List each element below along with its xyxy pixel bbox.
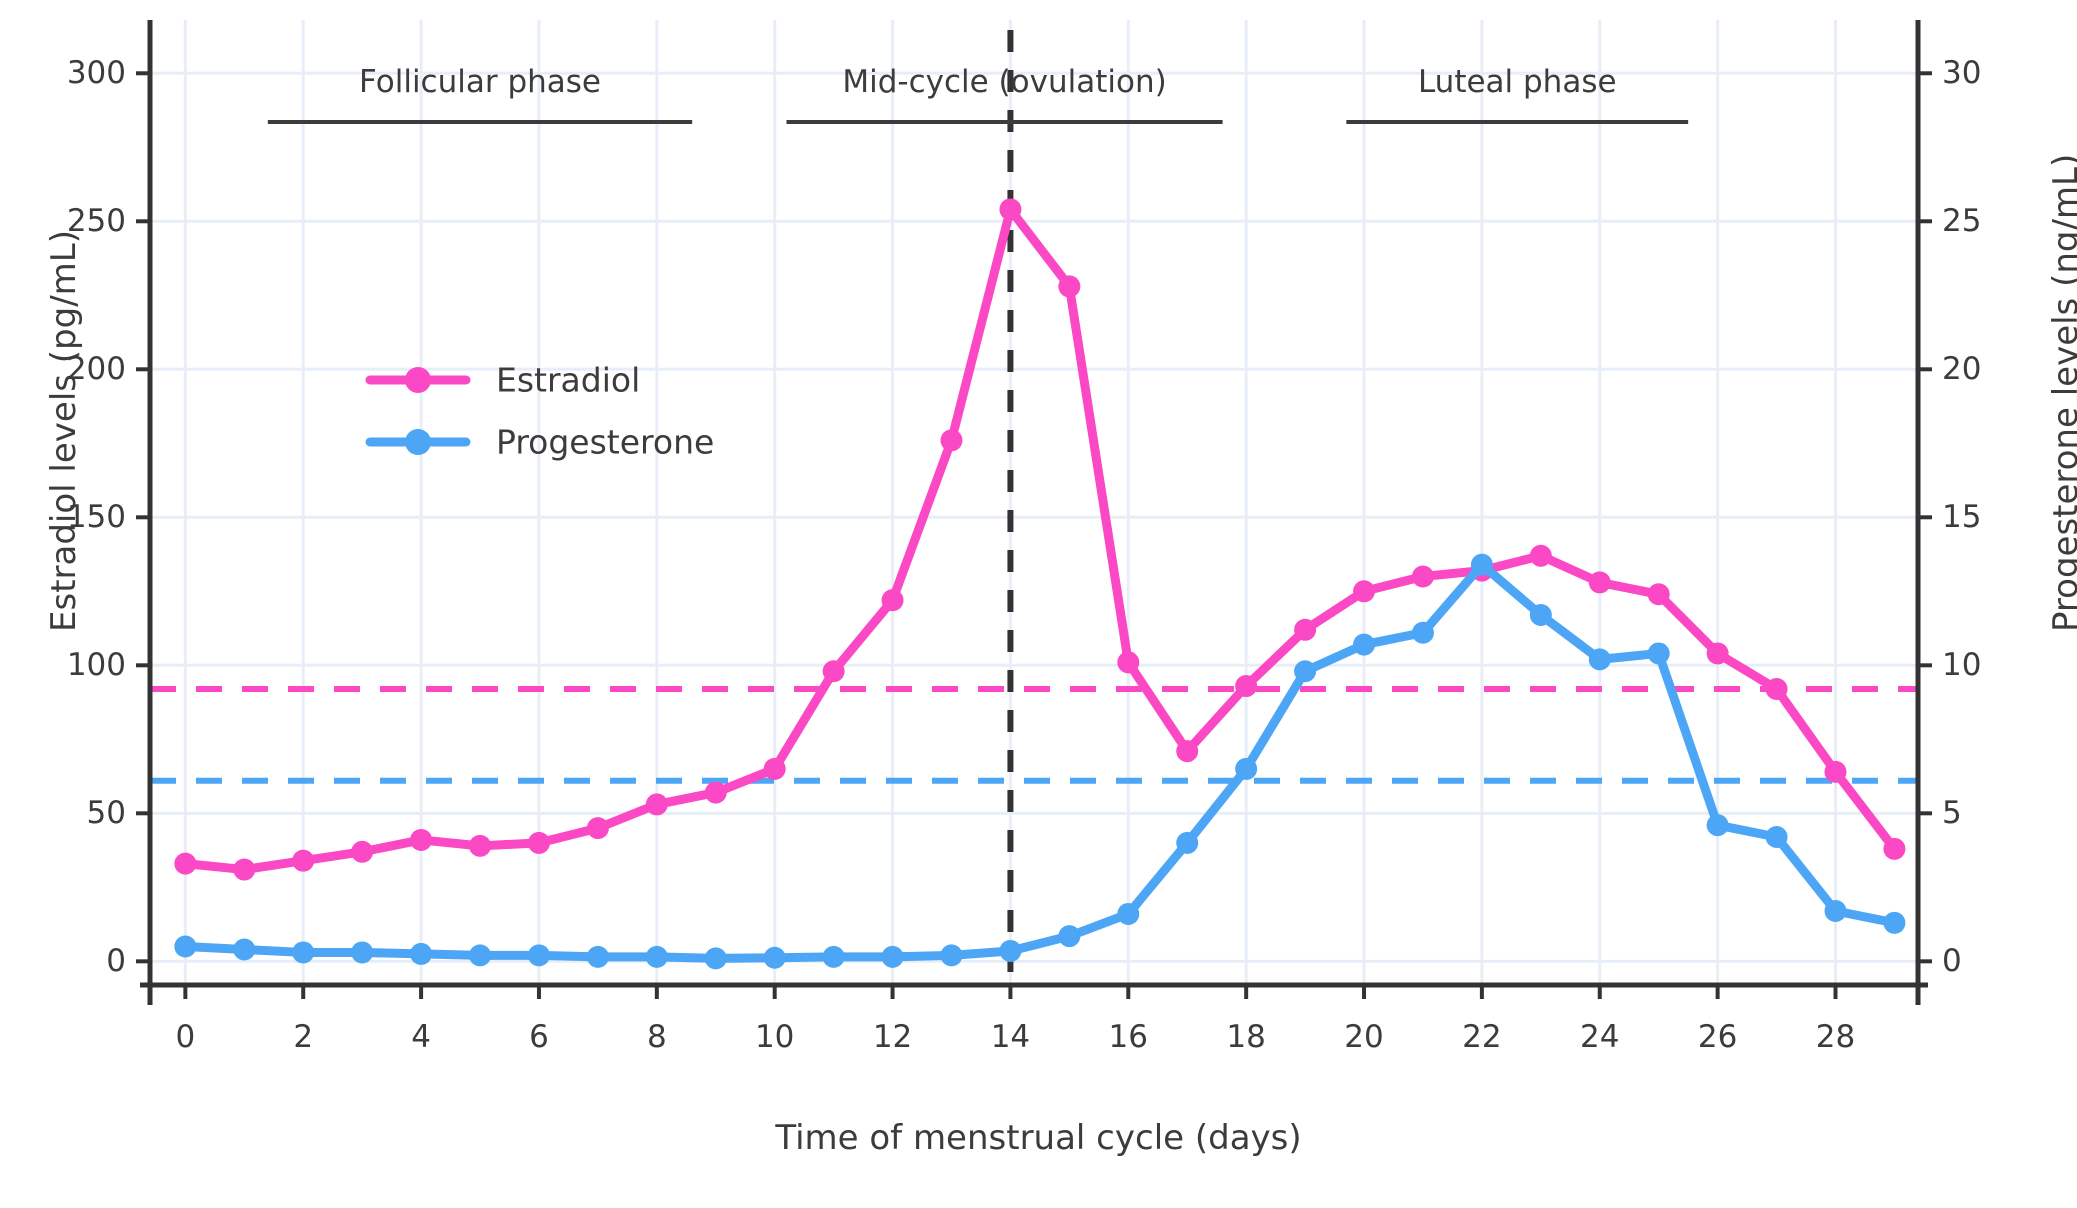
legend-label-progesterone: Progesterone xyxy=(496,423,714,462)
data-point-estradiol-day-2[interactable] xyxy=(292,850,314,872)
data-point-progesterone-day-26[interactable] xyxy=(1707,814,1729,836)
legend-swatch-marker-estradiol xyxy=(405,367,431,393)
data-point-estradiol-day-7[interactable] xyxy=(587,817,609,839)
data-point-estradiol-day-27[interactable] xyxy=(1766,678,1788,700)
x-axis-tick-label: 16 xyxy=(1109,1019,1148,1055)
data-point-estradiol-day-11[interactable] xyxy=(823,660,845,682)
data-point-estradiol-day-26[interactable] xyxy=(1707,642,1729,664)
x-axis-tick-label: 10 xyxy=(755,1019,794,1055)
data-point-progesterone-day-10[interactable] xyxy=(764,947,786,969)
x-axis-tick-label: 6 xyxy=(529,1019,549,1055)
data-point-progesterone-day-18[interactable] xyxy=(1235,758,1257,780)
data-point-progesterone-day-6[interactable] xyxy=(528,944,550,966)
y-axis-right-tick-label: 20 xyxy=(1942,351,1981,387)
y-axis-left-title: Estradiol levels (pg/mL) xyxy=(44,230,84,632)
y-axis-right-tick-label: 15 xyxy=(1942,499,1981,535)
data-point-progesterone-day-27[interactable] xyxy=(1766,826,1788,848)
data-point-progesterone-day-17[interactable] xyxy=(1176,832,1198,854)
data-point-progesterone-day-1[interactable] xyxy=(233,938,255,960)
data-point-progesterone-day-22[interactable] xyxy=(1471,554,1493,576)
data-point-progesterone-day-9[interactable] xyxy=(705,947,727,969)
data-point-estradiol-day-5[interactable] xyxy=(469,835,491,857)
data-point-estradiol-day-14[interactable] xyxy=(999,198,1021,220)
y-axis-left-tick-label: 150 xyxy=(67,499,126,535)
x-axis-tick-label: 18 xyxy=(1226,1019,1265,1055)
data-point-progesterone-day-14[interactable] xyxy=(999,940,1021,962)
data-point-estradiol-day-17[interactable] xyxy=(1176,740,1198,762)
data-point-progesterone-day-13[interactable] xyxy=(940,944,962,966)
data-point-progesterone-day-11[interactable] xyxy=(823,946,845,968)
data-point-estradiol-day-6[interactable] xyxy=(528,832,550,854)
x-axis-tick-label: 4 xyxy=(411,1019,431,1055)
y-axis-left-tick-label: 200 xyxy=(67,351,126,387)
data-point-progesterone-day-28[interactable] xyxy=(1824,900,1846,922)
data-point-estradiol-day-4[interactable] xyxy=(410,829,432,851)
x-axis-title: Time of menstrual cycle (days) xyxy=(0,1118,2077,1158)
series-line-progesterone[interactable] xyxy=(185,565,1894,959)
y-axis-right-tick-label: 30 xyxy=(1942,55,1981,91)
data-point-progesterone-day-16[interactable] xyxy=(1117,903,1139,925)
phase-annotation-label: Follicular phase xyxy=(359,64,601,100)
x-axis-tick-label: 20 xyxy=(1344,1019,1383,1055)
data-point-estradiol-day-3[interactable] xyxy=(351,841,373,863)
legend-label-estradiol: Estradiol xyxy=(496,361,640,400)
y-axis-left-tick-label: 100 xyxy=(67,647,126,683)
data-point-progesterone-day-15[interactable] xyxy=(1058,925,1080,947)
y-axis-right-tick-label: 10 xyxy=(1942,647,1981,683)
y-axis-left-tick-label: 0 xyxy=(106,943,126,979)
data-point-estradiol-day-23[interactable] xyxy=(1530,545,1552,567)
y-axis-left-tick-label: 250 xyxy=(67,203,126,239)
x-axis-tick-label: 2 xyxy=(293,1019,313,1055)
y-axis-right-title: Progesterone levels (ng/mL) xyxy=(2046,154,2077,632)
data-point-estradiol-day-25[interactable] xyxy=(1648,583,1670,605)
y-axis-right-tick-label: 25 xyxy=(1942,203,1981,239)
x-axis-tick-label: 22 xyxy=(1462,1019,1501,1055)
chart-container: Estradiol levels (pg/mL) Progesterone le… xyxy=(0,0,2077,1208)
data-point-progesterone-day-5[interactable] xyxy=(469,944,491,966)
x-axis-tick-label: 0 xyxy=(175,1019,195,1055)
x-axis-tick-label: 12 xyxy=(873,1019,912,1055)
data-point-progesterone-day-12[interactable] xyxy=(882,946,904,968)
data-point-progesterone-day-3[interactable] xyxy=(351,941,373,963)
y-axis-right-tick-label: 0 xyxy=(1942,943,1962,979)
x-axis-tick-label: 28 xyxy=(1816,1019,1855,1055)
data-point-estradiol-day-24[interactable] xyxy=(1589,571,1611,593)
data-point-progesterone-day-21[interactable] xyxy=(1412,622,1434,644)
data-point-estradiol-day-10[interactable] xyxy=(764,758,786,780)
data-point-estradiol-day-28[interactable] xyxy=(1824,761,1846,783)
y-axis-left-tick-label: 300 xyxy=(67,55,126,91)
x-axis-tick-label: 8 xyxy=(647,1019,667,1055)
data-point-estradiol-day-0[interactable] xyxy=(174,853,196,875)
phase-annotation-label: Mid-cycle (ovulation) xyxy=(842,64,1166,100)
data-point-progesterone-day-24[interactable] xyxy=(1589,648,1611,670)
data-point-estradiol-day-13[interactable] xyxy=(940,429,962,451)
data-point-estradiol-day-8[interactable] xyxy=(646,793,668,815)
legend-swatch-marker-progesterone xyxy=(405,429,431,455)
y-axis-left-tick-label: 50 xyxy=(87,795,126,831)
data-point-progesterone-day-20[interactable] xyxy=(1353,634,1375,656)
data-point-progesterone-day-2[interactable] xyxy=(292,941,314,963)
data-point-estradiol-day-9[interactable] xyxy=(705,782,727,804)
data-point-estradiol-day-12[interactable] xyxy=(882,589,904,611)
data-point-progesterone-day-8[interactable] xyxy=(646,946,668,968)
data-point-progesterone-day-7[interactable] xyxy=(587,946,609,968)
series-line-estradiol[interactable] xyxy=(185,209,1894,869)
data-point-estradiol-day-15[interactable] xyxy=(1058,275,1080,297)
data-point-progesterone-day-23[interactable] xyxy=(1530,604,1552,626)
data-point-estradiol-day-16[interactable] xyxy=(1117,651,1139,673)
phase-annotation-label: Luteal phase xyxy=(1418,64,1617,100)
data-point-estradiol-day-1[interactable] xyxy=(233,859,255,881)
data-point-progesterone-day-19[interactable] xyxy=(1294,660,1316,682)
data-point-estradiol-day-19[interactable] xyxy=(1294,619,1316,641)
x-axis-tick-label: 24 xyxy=(1580,1019,1619,1055)
data-point-estradiol-day-21[interactable] xyxy=(1412,566,1434,588)
data-point-estradiol-day-29[interactable] xyxy=(1883,838,1905,860)
data-point-estradiol-day-18[interactable] xyxy=(1235,675,1257,697)
data-point-progesterone-day-29[interactable] xyxy=(1883,912,1905,934)
x-axis-tick-label: 26 xyxy=(1698,1019,1737,1055)
y-axis-right-tick-label: 5 xyxy=(1942,795,1962,831)
data-point-progesterone-day-0[interactable] xyxy=(174,936,196,958)
x-axis-tick-label: 14 xyxy=(991,1019,1030,1055)
data-point-estradiol-day-20[interactable] xyxy=(1353,580,1375,602)
data-point-progesterone-day-4[interactable] xyxy=(410,943,432,965)
data-point-progesterone-day-25[interactable] xyxy=(1648,642,1670,664)
